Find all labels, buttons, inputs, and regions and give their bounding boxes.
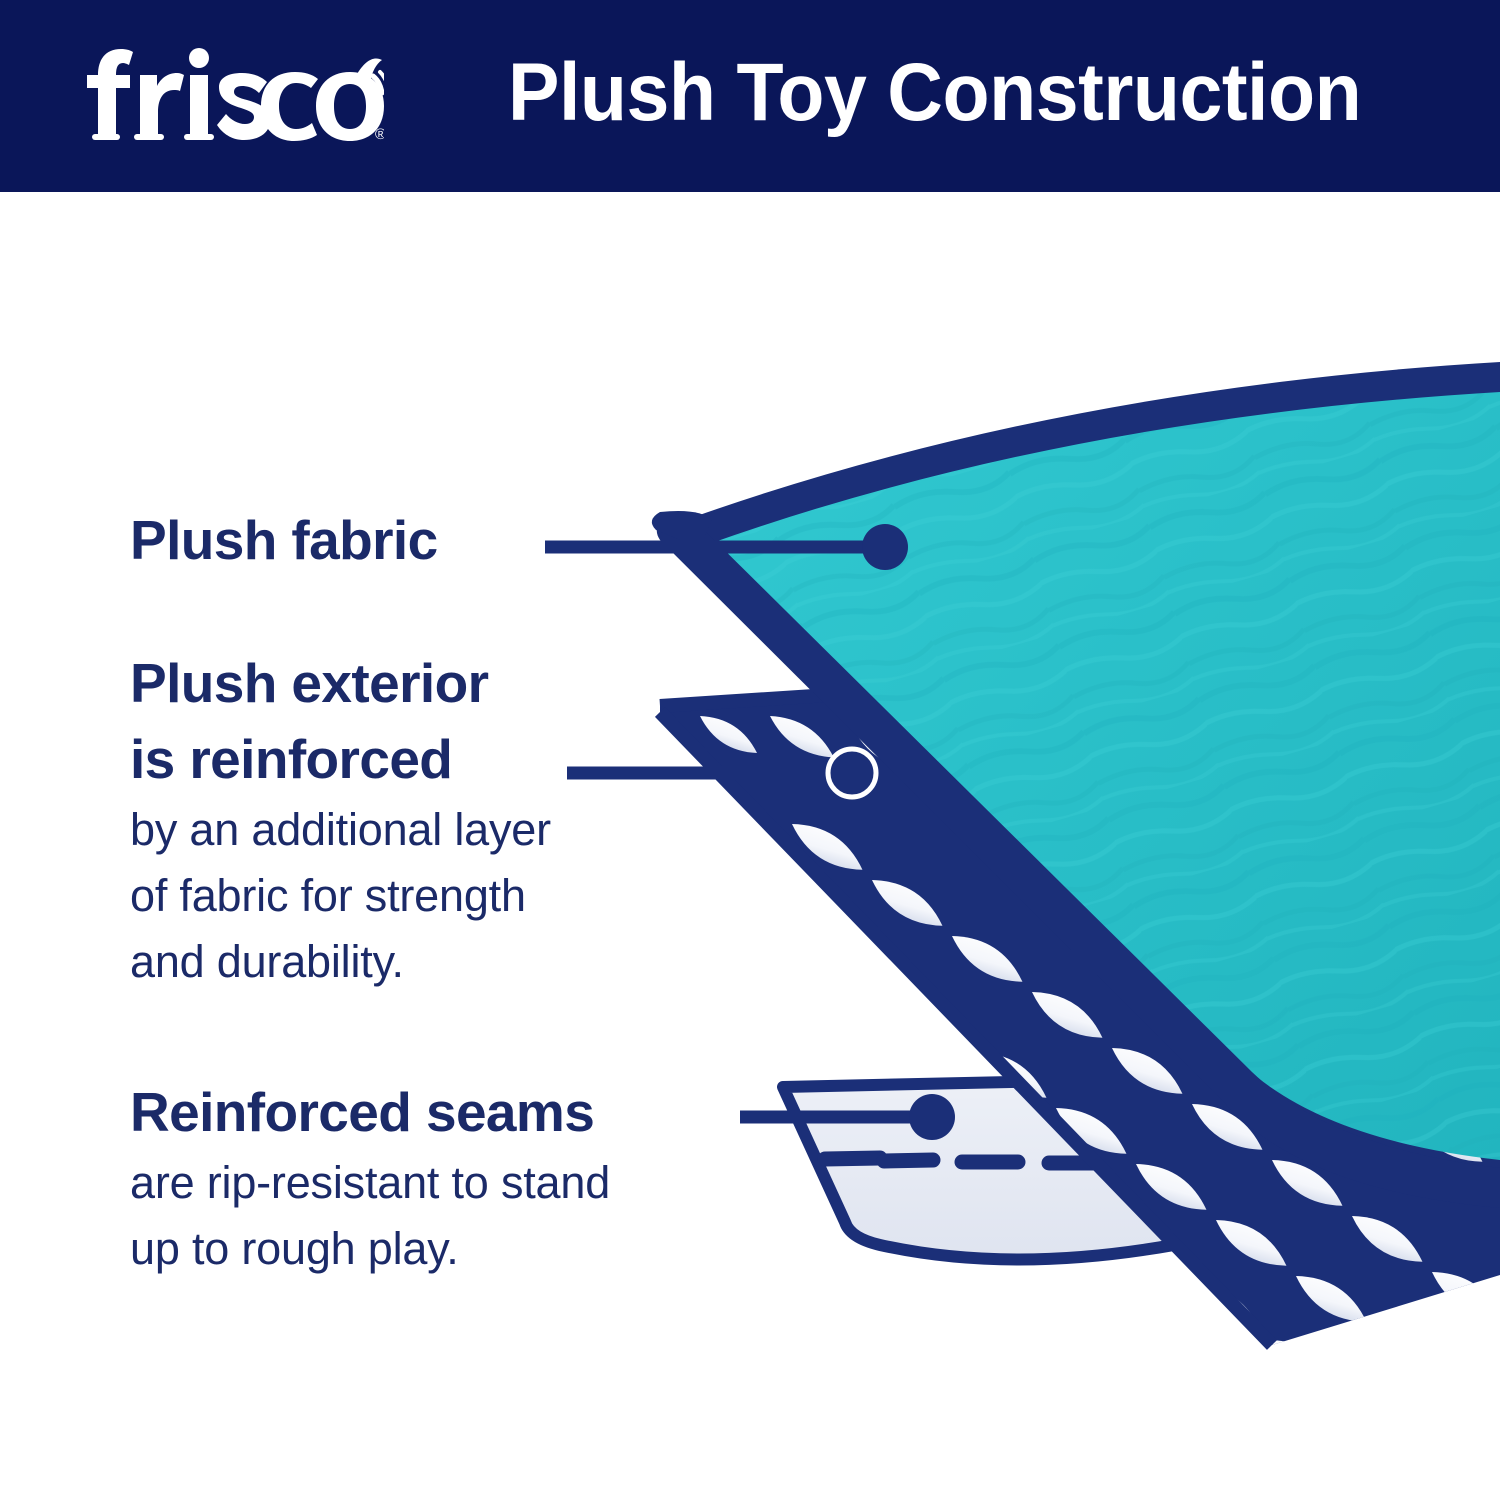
callout-plush-exterior: Plush exterior is reinforced by an addit… [130, 645, 730, 995]
frisco-logo: ® [84, 42, 384, 142]
callout-reinforced-seams-body: are rip-resistant to stand up to rough p… [130, 1150, 790, 1282]
registered-trademark-symbol: ® [375, 126, 384, 142]
header-bar: ® Plush Toy Construction [0, 0, 1500, 192]
page-title: Plush Toy Construction [508, 44, 1361, 142]
callout-plush-exterior-heading: Plush exterior is reinforced [130, 645, 730, 797]
seam-flap-layer [783, 1078, 1300, 1260]
callout-plush-fabric-heading: Plush fabric [130, 502, 560, 578]
marker-ring-plush-exterior [828, 749, 876, 797]
callout-reinforced-seams: Reinforced seams are rip-resistant to st… [130, 1074, 790, 1282]
callout-reinforced-seams-heading: Reinforced seams [130, 1074, 790, 1150]
infographic-page: ® Plush Toy Construction [0, 0, 1500, 1500]
stitch-dashes [825, 1158, 1103, 1163]
marker-dot-reinforced-seams [909, 1094, 955, 1140]
leader-plush-fabric [545, 524, 908, 570]
mesh-holes [695, 707, 1500, 1457]
callout-plush-exterior-body: by an additional layer of fabric for str… [130, 797, 730, 995]
marker-dot-plush-fabric [862, 524, 908, 570]
callout-plush-fabric: Plush fabric [130, 502, 560, 578]
